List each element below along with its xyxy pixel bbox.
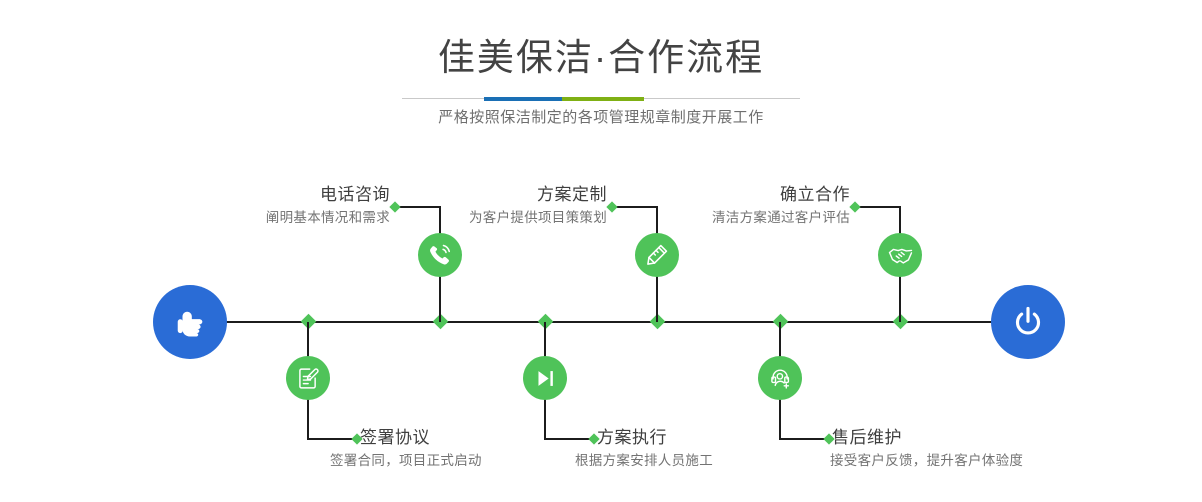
- top-step-1-title: 电话咨询: [160, 184, 390, 206]
- power-icon: [1010, 304, 1046, 340]
- top-step-3-title: 确立合作: [615, 184, 850, 206]
- timeline-end-node[interactable]: [991, 285, 1065, 359]
- top-step-1-desc: 阐明基本情况和需求: [160, 208, 390, 228]
- bottom-step-1-elbow: [307, 438, 357, 440]
- page-subtitle: 严格按照保洁制定的各项管理规章制度开展工作: [0, 106, 1202, 130]
- bottom-step-3-desc: 接受客户反馈，提升客户体验度: [830, 451, 1112, 471]
- bottom-step-3-title: 售后维护: [832, 427, 1112, 449]
- page-header: 佳美保洁·合作流程 严格按照保洁制定的各项管理规章制度开展工作: [0, 0, 1202, 150]
- top-step-3-elbow-dot: [849, 201, 860, 212]
- top-step-3-elbow-horizontal: [856, 206, 900, 208]
- top-step-2-desc: 为客户提供项目策策划: [377, 208, 607, 228]
- top-step-2-label: 方案定制 为客户提供项目策策划: [377, 184, 607, 228]
- bottom-step-1-elbow-horizontal: [307, 438, 357, 440]
- top-step-3-icon-circle[interactable]: [878, 233, 922, 277]
- pointing-hand-icon: [171, 303, 209, 341]
- bottom-step-3-elbow-horizontal: [779, 438, 829, 440]
- bottom-step-2-elbow-horizontal: [544, 438, 594, 440]
- document-edit-icon: [296, 366, 321, 391]
- pencil-ruler-icon: [644, 242, 670, 268]
- bottom-step-1-icon-circle[interactable]: [286, 356, 330, 400]
- bottom-step-2-icon-circle[interactable]: [523, 356, 567, 400]
- bottom-step-3-icon-circle[interactable]: [758, 356, 802, 400]
- divider-blue-segment: [484, 97, 562, 101]
- title-divider: [402, 97, 800, 101]
- top-step-3-elbow: [856, 206, 900, 208]
- bottom-step-3-elbow: [779, 438, 829, 440]
- top-step-2-title: 方案定制: [377, 184, 607, 206]
- top-step-3-label: 确立合作 清洁方案通过客户评估: [615, 184, 850, 228]
- bottom-step-2-label: 方案执行 根据方案安排人员施工: [597, 427, 857, 471]
- bottom-step-2-desc: 根据方案安排人员施工: [575, 451, 857, 471]
- timeline-start-node[interactable]: [153, 285, 227, 359]
- top-step-3-desc: 清洁方案通过客户评估: [615, 208, 850, 228]
- divider-green-segment: [562, 97, 644, 101]
- top-step-2-icon-circle[interactable]: [635, 233, 679, 277]
- top-step-1-label: 电话咨询 阐明基本情况和需求: [160, 184, 390, 228]
- page-title: 佳美保洁·合作流程: [0, 36, 1202, 80]
- phone-ring-icon: [427, 242, 453, 268]
- handshake-icon: [887, 242, 914, 269]
- process-flow-page: 佳美保洁·合作流程 严格按照保洁制定的各项管理规章制度开展工作: [0, 0, 1202, 502]
- top-step-1-icon-circle[interactable]: [418, 233, 462, 277]
- bottom-step-3-label: 售后维护 接受客户反馈，提升客户体验度: [832, 427, 1112, 471]
- bottom-step-2-elbow: [544, 438, 594, 440]
- customer-service-add-icon: [768, 366, 793, 391]
- play-next-icon: [533, 366, 558, 391]
- timeline: 电话咨询 阐明基本情况和需求 方案: [0, 150, 1202, 502]
